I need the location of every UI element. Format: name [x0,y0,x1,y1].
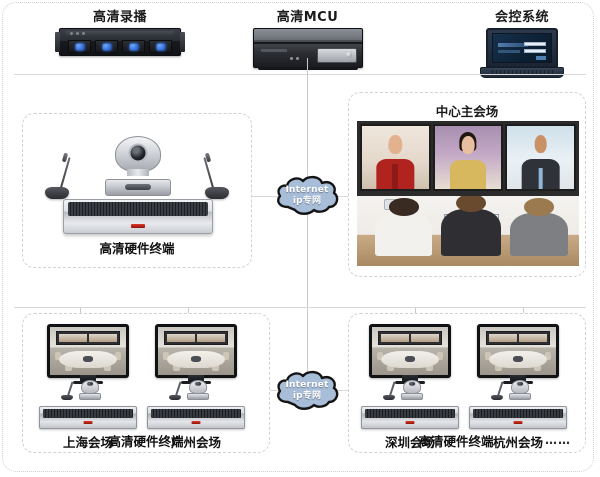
venue-microphone-icon [383,382,395,400]
monitor-wall [357,121,579,196]
device-conference-control-system[interactable]: 会控系统 [462,10,582,78]
attendee-3 [510,213,568,256]
venue-display-hangzhou [477,324,559,378]
venue-display-guangzhou [155,324,237,378]
divider-line-middle [14,307,586,308]
venue-camera-icon [79,380,101,400]
attendee-1 [375,213,433,256]
panel-main-venue: 中心主会场 [348,92,586,277]
venue-codec-hangzhou [469,406,567,429]
connector-mcu-to-cloud [307,58,308,188]
remote-participant-2 [433,124,504,191]
laptop-icon [480,28,564,78]
device-label-conference-control: 会控系统 [462,10,582,26]
venue-display-shenzhen [369,324,451,378]
cloud-shape-icon [274,369,340,413]
venue-camera-icon [187,380,209,400]
remote-participant-3 [505,124,576,191]
venue-peripherals-shanghai [35,378,141,400]
cloud-internet-upper: Internetip专网 [274,174,340,218]
venue-microphone-icon [491,382,503,400]
main-conference-room-photo [357,121,579,266]
cloud-internet-lower: Internetip专网 [274,369,340,413]
venue-microphone-icon [61,382,73,400]
venue-camera-icon [509,380,531,400]
device-label-hd-mcu: 高清MCU [245,10,370,26]
panel-branch-venues-right: 深圳会场 [348,313,586,453]
venue-codec-shenzhen [361,406,459,429]
microphone-right-icon [205,154,229,199]
local-room-scene [357,196,579,266]
venue-microphone-icon [169,382,181,400]
venue-display-shanghai [47,324,129,378]
ptz-camera-icon [105,136,171,196]
more-venues-ellipsis: …… [545,433,571,447]
venue-codec-guangzhou [147,406,245,429]
panel-branch-venues-left: 上海会场 [22,313,270,453]
rack-server-icon [59,28,181,56]
diagram-canvas: 高清录播 高清MCU 会控系统 [0,0,600,477]
divider-line-top [14,74,586,75]
remote-participant-1 [360,124,431,191]
venue-peripherals-guangzhou [143,378,249,400]
attendee-2 [441,209,501,256]
connector-cloud-to-cloud [307,205,308,383]
cloud-shape-icon [274,174,340,218]
codec-unit-icon [63,199,213,234]
caption-hd-terminal: 高清硬件终端 [23,238,251,257]
microphone-left-icon [45,154,69,199]
caption-hd-terminal-left: 高清硬件终端 [23,431,269,450]
panel-title-main-venue: 中心主会场 [349,101,585,120]
venue-codec-shanghai [39,406,137,429]
venue-camera-icon [401,380,423,400]
device-label-hd-recorder: 高清录播 [55,10,185,26]
venue-peripherals-shenzhen [357,378,463,400]
venue-peripherals-hangzhou [465,378,571,400]
panel-hd-terminal: 高清硬件终端 [22,113,252,268]
device-hd-recorder[interactable]: 高清录播 [55,10,185,56]
